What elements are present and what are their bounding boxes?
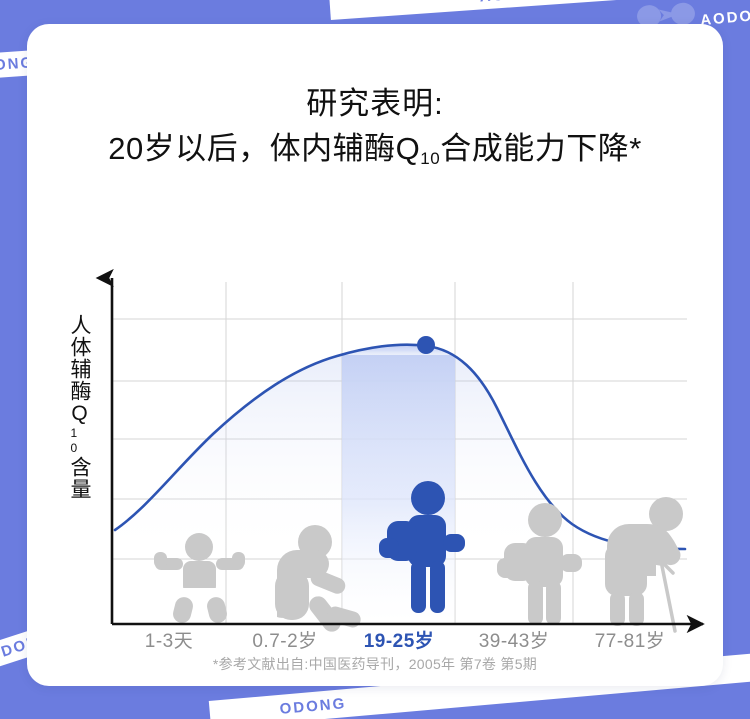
x-tick-label-1: 0.7-2岁 xyxy=(225,626,345,653)
chart-canvas xyxy=(27,256,723,656)
headline-line-2: 20岁以后，体内辅酶Q10合成能力下降* xyxy=(27,126,723,177)
headline-line-2-subscript: 10 xyxy=(420,149,440,168)
headline-line-2-suffix: 合成能力下降* xyxy=(440,131,642,166)
x-tick-label-0: 1-3天 xyxy=(109,626,229,653)
coq10-decline-chart: 人体辅酶Q10含量 xyxy=(27,256,723,656)
headline: 研究表明: 20岁以后，体内辅酶Q10合成能力下降* xyxy=(27,82,723,177)
peak-data-point[interactable] xyxy=(417,336,435,354)
elderly-cane-icon xyxy=(605,497,683,631)
chart-x-axis-tick-labels: 1-3天 0.7-2岁 19-25岁 39-43岁 77-81岁 xyxy=(27,626,723,656)
x-tick-label-4: 77-81岁 xyxy=(570,626,690,653)
bowtie-right-lobe xyxy=(670,2,695,26)
x-tick-label-2: 19-25岁 xyxy=(339,626,459,653)
headline-line-1: 研究表明: xyxy=(27,82,723,126)
brand-ribbon-top-label: AODONG xyxy=(479,0,559,5)
chart-footnote: *参考文献出自:中国医药导刊，2005年 第7卷 第5期 xyxy=(27,654,723,674)
headline-line-2-prefix: 20岁以后，体内辅酶Q xyxy=(108,131,420,166)
brand-ribbon-bottom-label: ODONG xyxy=(279,695,347,718)
x-tick-label-3: 39-43岁 xyxy=(454,626,574,653)
content-card: 研究表明: 20岁以后，体内辅酶Q10合成能力下降* 人体辅酶Q10含量 xyxy=(27,24,723,686)
